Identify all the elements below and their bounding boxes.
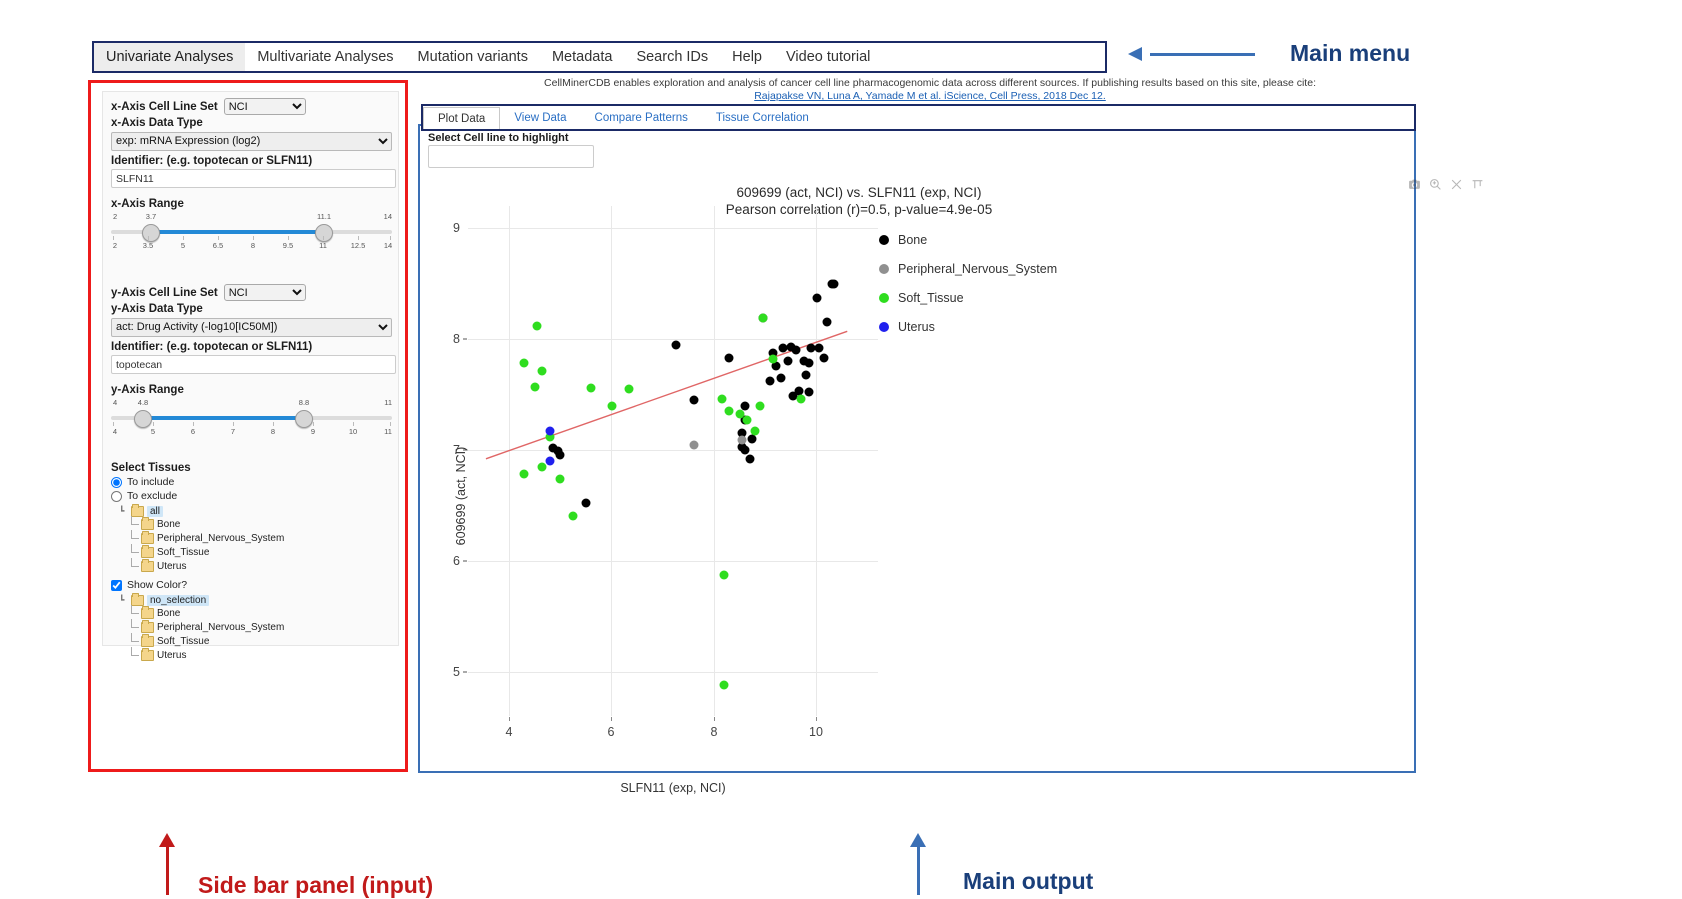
x-range-end-left: 2 bbox=[113, 212, 117, 221]
x-range-high-value: 11.1 bbox=[317, 212, 331, 221]
zoom-icon[interactable] bbox=[1429, 178, 1442, 191]
data-point[interactable] bbox=[758, 313, 767, 322]
x-tick-label: 8 bbox=[711, 725, 718, 739]
color-tree-item-soft-tissue[interactable]: Soft_Tissue bbox=[141, 634, 390, 648]
color-tree-root-label: no_selection bbox=[147, 595, 209, 606]
tissue-tree-item-soft-tissue[interactable]: Soft_Tissue bbox=[141, 545, 390, 559]
x-tick-label: 12.5 bbox=[351, 241, 366, 250]
legend-label: Peripheral_Nervous_System bbox=[898, 262, 1057, 276]
trendline bbox=[468, 206, 878, 716]
y-tick-label: 9 bbox=[430, 221, 460, 235]
menu-item-metadata[interactable]: Metadata bbox=[540, 43, 624, 71]
data-point[interactable] bbox=[804, 388, 813, 397]
x-tick-label: 5 bbox=[181, 241, 185, 250]
pan-icon[interactable] bbox=[1450, 178, 1463, 191]
tissue-mode-include-row[interactable]: To include bbox=[111, 476, 390, 488]
data-point[interactable] bbox=[546, 457, 555, 466]
data-point[interactable] bbox=[671, 340, 680, 349]
x-tick-label: 9.5 bbox=[283, 241, 293, 250]
arrow-head-sidebar bbox=[159, 833, 175, 847]
autoscale-icon[interactable] bbox=[1471, 178, 1484, 191]
data-point[interactable] bbox=[720, 680, 729, 689]
data-point[interactable] bbox=[556, 474, 565, 483]
legend-swatch-bone bbox=[879, 235, 889, 245]
x-range-end-right: 14 bbox=[384, 212, 392, 221]
color-tree-item-peripheral-nervous-system[interactable]: Peripheral_Nervous_System bbox=[141, 620, 390, 634]
y-axis-identifier-input[interactable] bbox=[111, 355, 396, 374]
tissue-tree-root-label: all bbox=[147, 506, 163, 517]
arrow-sidebar bbox=[166, 845, 169, 895]
sidebar-inner-panel: x-Axis Cell Line Set NCI x-Axis Data Typ… bbox=[102, 91, 399, 646]
folder-icon bbox=[141, 636, 154, 647]
x-axis-identifier-input[interactable] bbox=[111, 169, 396, 188]
color-tree-item-label: Uterus bbox=[157, 650, 186, 661]
y-range-high-value: 8.8 bbox=[299, 398, 309, 407]
color-tree[interactable]: ┗ no_selection Bone Peripheral_Nervous_S… bbox=[111, 595, 390, 662]
data-point[interactable] bbox=[797, 394, 806, 403]
folder-icon bbox=[141, 533, 154, 544]
tissue-tree-item-label: Uterus bbox=[157, 561, 186, 572]
y-tick-label: 7 bbox=[231, 427, 235, 436]
x-tick-label: 6.5 bbox=[213, 241, 223, 250]
y-slider-handle-high[interactable] bbox=[295, 410, 313, 428]
data-point[interactable] bbox=[745, 454, 754, 463]
data-point[interactable] bbox=[792, 346, 801, 355]
x-axis-range-label: x-Axis Range bbox=[111, 198, 390, 210]
x-tick-label: 10 bbox=[809, 725, 823, 739]
x-tick-label: 14 bbox=[384, 241, 392, 250]
data-point[interactable] bbox=[546, 427, 555, 436]
menu-item-label: Metadata bbox=[552, 49, 612, 65]
x-axis-cell-line-set-select[interactable]: NCI bbox=[224, 98, 306, 115]
data-point[interactable] bbox=[725, 353, 734, 362]
x-axis-identifier-label: Identifier: (e.g. topotecan or SLFN11) bbox=[111, 155, 390, 167]
arrow-head-main-menu bbox=[1128, 47, 1142, 61]
legend-swatch-soft-tissue bbox=[879, 293, 889, 303]
legend-item-uterus[interactable]: Uterus bbox=[879, 317, 1057, 336]
menu-item-help[interactable]: Help bbox=[720, 43, 774, 71]
folder-icon bbox=[141, 622, 154, 633]
annotation-main-output: Main output bbox=[963, 868, 1093, 895]
x-axis-data-type-label: x-Axis Data Type bbox=[111, 117, 390, 129]
color-tree-item-label: Bone bbox=[157, 608, 180, 619]
expander-icon[interactable]: ┗ bbox=[119, 506, 128, 517]
y-tick-label: 8 bbox=[430, 332, 460, 346]
legend-label: Bone bbox=[898, 233, 927, 247]
data-point[interactable] bbox=[748, 434, 757, 443]
camera-icon[interactable] bbox=[1408, 178, 1421, 191]
data-point[interactable] bbox=[756, 401, 765, 410]
data-point[interactable] bbox=[581, 499, 590, 508]
x-axis-range-slider[interactable]: 2 14 3.7 11.1 2 3.5 5 6.5 8 9.5 11 12.5 … bbox=[111, 212, 392, 254]
data-point[interactable] bbox=[717, 394, 726, 403]
sub-tab-label: Plot Data bbox=[438, 113, 485, 125]
x-range-low-value: 3.7 bbox=[146, 212, 156, 221]
folder-icon bbox=[141, 547, 154, 558]
y-axis-data-type-label: y-Axis Data Type bbox=[111, 303, 390, 315]
y-tick-label: 5 bbox=[430, 665, 460, 679]
sub-tab-view-data[interactable]: View Data bbox=[500, 106, 580, 129]
data-point[interactable] bbox=[607, 401, 616, 410]
tissue-mode-exclude-radio[interactable] bbox=[111, 491, 122, 502]
sub-tab-label: Tissue Correlation bbox=[716, 112, 809, 124]
menu-item-search-ids[interactable]: Search IDs bbox=[624, 43, 720, 71]
sub-tab-label: View Data bbox=[514, 112, 566, 124]
y-axis-range-slider[interactable]: 4 11 4.8 8.8 4 5 6 7 8 9 10 11 bbox=[111, 398, 392, 440]
data-point[interactable] bbox=[820, 353, 829, 362]
data-point[interactable] bbox=[768, 355, 777, 364]
x-axis-label: SLFN11 (exp, NCI) bbox=[620, 781, 725, 795]
tissue-tree-item-label: Peripheral_Nervous_System bbox=[157, 533, 284, 544]
show-color-checkbox[interactable] bbox=[111, 580, 122, 591]
menu-item-univariate-analyses[interactable]: Univariate Analyses bbox=[94, 43, 245, 71]
y-axis-identifier-label: Identifier: (e.g. topotecan or SLFN11) bbox=[111, 341, 390, 353]
x-tick-label: 2 bbox=[113, 241, 117, 250]
y-tick-label: 8 bbox=[271, 427, 275, 436]
folder-icon bbox=[131, 595, 144, 606]
data-point[interactable] bbox=[784, 357, 793, 366]
citation-link[interactable]: Rajapakse VN, Luna A, Yamade M et al. iS… bbox=[430, 90, 1430, 103]
y-slider-fill bbox=[143, 416, 304, 420]
data-point[interactable] bbox=[530, 382, 539, 391]
sidebar-panel: x-Axis Cell Line Set NCI x-Axis Data Typ… bbox=[88, 80, 408, 772]
folder-icon bbox=[141, 650, 154, 661]
x-tick-label: 4 bbox=[506, 725, 513, 739]
menu-item-label: Univariate Analyses bbox=[106, 49, 233, 65]
menu-item-mutation-variants[interactable]: Mutation variants bbox=[406, 43, 540, 71]
y-axis-cell-line-set-row: y-Axis Cell Line Set NCI bbox=[111, 284, 390, 301]
highlight-cell-line-label: Select Cell line to highlight bbox=[428, 132, 569, 144]
data-point[interactable] bbox=[587, 383, 596, 392]
data-point[interactable] bbox=[802, 370, 811, 379]
citation-block: CellMinerCDB enables exploration and ana… bbox=[430, 77, 1430, 103]
sub-tab-tissue-correlation[interactable]: Tissue Correlation bbox=[702, 106, 823, 129]
data-point[interactable] bbox=[751, 427, 760, 436]
arrow-main-output bbox=[917, 845, 920, 895]
color-tree-item-label: Soft_Tissue bbox=[157, 636, 209, 647]
y-tick-label: 5 bbox=[151, 427, 155, 436]
data-point[interactable] bbox=[689, 441, 698, 450]
color-tree-root[interactable]: ┗ no_selection bbox=[119, 595, 390, 606]
x-tick-label: 8 bbox=[251, 241, 255, 250]
data-point[interactable] bbox=[625, 384, 634, 393]
data-point[interactable] bbox=[822, 318, 831, 327]
menu-item-label: Search IDs bbox=[636, 49, 708, 65]
y-axis-cell-line-set-select[interactable]: NCI bbox=[224, 284, 306, 301]
data-point[interactable] bbox=[538, 367, 547, 376]
y-tick-label: 11 bbox=[384, 427, 392, 436]
data-point[interactable] bbox=[738, 435, 747, 444]
scatter-plot: 609699 (act, NCI) vs. SLFN11 (exp, NCI) … bbox=[424, 170, 1409, 770]
folder-icon bbox=[141, 519, 154, 530]
x-tick-label: 11 bbox=[319, 241, 327, 250]
x-slider-handle-low[interactable] bbox=[142, 224, 160, 242]
data-point[interactable] bbox=[689, 396, 698, 405]
legend-swatch-peripheral-nervous-system bbox=[879, 264, 889, 274]
plot-legend[interactable]: Bone Peripheral_Nervous_System Soft_Tiss… bbox=[879, 230, 1057, 346]
y-axis-data-type-select[interactable]: act: Drug Activity (-log10[IC50M]) bbox=[111, 318, 392, 337]
y-range-end-left: 4 bbox=[113, 398, 117, 407]
tissue-tree-item-label: Soft_Tissue bbox=[157, 547, 209, 558]
select-tissues-title: Select Tissues bbox=[111, 462, 390, 474]
sub-menu[interactable]: Plot Data View Data Compare Patterns Tis… bbox=[421, 104, 1416, 131]
data-point[interactable] bbox=[720, 571, 729, 580]
y-slider-handle-low[interactable] bbox=[134, 410, 152, 428]
tissue-mode-exclude-label: To exclude bbox=[127, 490, 177, 502]
data-point[interactable] bbox=[815, 343, 824, 352]
legend-item-peripheral-nervous-system[interactable]: Peripheral_Nervous_System bbox=[879, 259, 1057, 278]
tissue-mode-include-label: To include bbox=[127, 476, 174, 488]
data-point[interactable] bbox=[812, 294, 821, 303]
data-point[interactable] bbox=[766, 377, 775, 386]
data-point[interactable] bbox=[533, 321, 542, 330]
data-point[interactable] bbox=[776, 373, 785, 382]
plot-title: 609699 (act, NCI) vs. SLFN11 (exp, NCI) bbox=[674, 184, 1044, 201]
x-axis-cell-line-set-row: x-Axis Cell Line Set NCI bbox=[111, 98, 390, 115]
show-color-row[interactable]: Show Color? bbox=[111, 579, 390, 591]
y-range-end-right: 11 bbox=[384, 398, 392, 407]
citation-description: CellMinerCDB enables exploration and ana… bbox=[430, 77, 1430, 90]
y-axis-range-label: y-Axis Range bbox=[111, 384, 390, 396]
tissue-tree-item-peripheral-nervous-system[interactable]: Peripheral_Nervous_System bbox=[141, 531, 390, 545]
data-point[interactable] bbox=[830, 279, 839, 288]
x-slider-handle-high[interactable] bbox=[315, 224, 333, 242]
data-point[interactable] bbox=[520, 470, 529, 479]
plot-axes-area: 9 8 7 6 5 4 6 8 10 609699 (act, NCI) SLF… bbox=[468, 206, 878, 716]
data-point[interactable] bbox=[520, 359, 529, 368]
tissue-tree-root[interactable]: ┗ all bbox=[119, 506, 390, 517]
legend-item-bone[interactable]: Bone bbox=[879, 230, 1057, 249]
tissue-tree-item-bone[interactable]: Bone bbox=[141, 517, 390, 531]
folder-icon bbox=[131, 506, 144, 517]
y-tick-label: 4 bbox=[113, 427, 117, 436]
color-tree-item-label: Peripheral_Nervous_System bbox=[157, 622, 284, 633]
x-slider-fill bbox=[151, 230, 324, 234]
y-axis-cell-line-set-label: y-Axis Cell Line Set bbox=[111, 287, 218, 299]
data-point[interactable] bbox=[725, 407, 734, 416]
y-range-low-value: 4.8 bbox=[138, 398, 148, 407]
legend-label: Soft_Tissue bbox=[898, 291, 964, 305]
folder-icon bbox=[141, 608, 154, 619]
folder-icon bbox=[141, 561, 154, 572]
legend-item-soft-tissue[interactable]: Soft_Tissue bbox=[879, 288, 1057, 307]
legend-swatch-uterus bbox=[879, 322, 889, 332]
color-tree-item-uterus[interactable]: Uterus bbox=[141, 648, 390, 662]
tissue-tree[interactable]: ┗ all Bone Peripheral_Nervous_System Sof… bbox=[111, 506, 390, 573]
menu-item-label: Multivariate Analyses bbox=[257, 49, 393, 65]
menu-item-multivariate-analyses[interactable]: Multivariate Analyses bbox=[245, 43, 405, 71]
arrow-head-main-output bbox=[910, 833, 926, 847]
sub-tab-compare-patterns[interactable]: Compare Patterns bbox=[581, 106, 702, 129]
plotly-modebar[interactable] bbox=[1408, 178, 1484, 191]
annotation-sidebar: Side bar panel (input) bbox=[198, 872, 433, 899]
tissue-tree-item-label: Bone bbox=[157, 519, 180, 530]
menu-item-label: Help bbox=[732, 49, 762, 65]
sub-tab-label: Compare Patterns bbox=[595, 112, 688, 124]
menu-item-label: Mutation variants bbox=[418, 49, 528, 65]
annotation-main-menu: Main menu bbox=[1290, 40, 1410, 67]
data-point[interactable] bbox=[743, 415, 752, 424]
x-axis-cell-line-set-label: x-Axis Cell Line Set bbox=[111, 101, 218, 113]
y-tick-label: 6 bbox=[191, 427, 195, 436]
legend-label: Uterus bbox=[898, 320, 935, 334]
y-tick-label: 6 bbox=[430, 554, 460, 568]
tissue-mode-include-radio[interactable] bbox=[111, 477, 122, 488]
y-axis-label: 609699 (act, NCI) bbox=[454, 447, 468, 546]
highlight-cell-line-input[interactable] bbox=[428, 145, 594, 168]
y-tick-label: 9 bbox=[311, 427, 315, 436]
show-color-label: Show Color? bbox=[127, 579, 187, 591]
data-point[interactable] bbox=[804, 359, 813, 368]
tissue-tree-item-uterus[interactable]: Uterus bbox=[141, 559, 390, 573]
sub-tab-plot-data[interactable]: Plot Data bbox=[423, 107, 500, 129]
main-menu[interactable]: Univariate Analyses Multivariate Analyse… bbox=[92, 41, 1107, 73]
data-point[interactable] bbox=[569, 512, 578, 521]
menu-item-label: Video tutorial bbox=[786, 49, 870, 65]
x-axis-data-type-select[interactable]: exp: mRNA Expression (log2) bbox=[111, 132, 392, 151]
data-point[interactable] bbox=[740, 401, 749, 410]
x-tick-label: 3.5 bbox=[143, 241, 153, 250]
color-tree-item-bone[interactable]: Bone bbox=[141, 606, 390, 620]
y-tick-label: 10 bbox=[349, 427, 357, 436]
expander-icon[interactable]: ┗ bbox=[119, 595, 128, 606]
x-tick-label: 6 bbox=[608, 725, 615, 739]
tissue-mode-exclude-row[interactable]: To exclude bbox=[111, 490, 390, 502]
menu-item-video-tutorial[interactable]: Video tutorial bbox=[774, 43, 882, 71]
arrow-main-menu bbox=[1150, 53, 1255, 56]
data-point[interactable] bbox=[556, 451, 565, 460]
